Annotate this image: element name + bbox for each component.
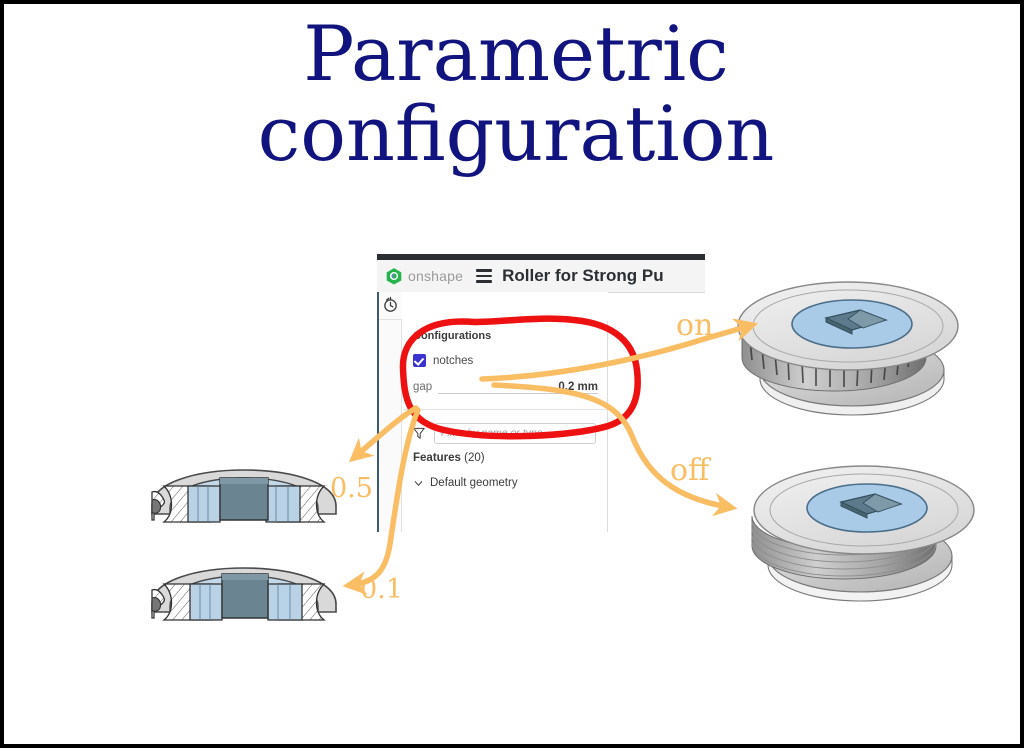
panel-icon-rail: [379, 292, 402, 532]
page-title: Parametric configuration: [4, 14, 1024, 174]
panel-tab-active[interactable]: [402, 292, 608, 320]
features-heading-label: Features: [413, 452, 461, 464]
onshape-logo-icon: [385, 267, 403, 285]
features-count: (20): [464, 452, 484, 464]
feature-list-item[interactable]: Default geometry: [413, 477, 518, 489]
onshape-wordmark: onshape: [408, 268, 463, 284]
feature-filter-row: Filter by name or type: [403, 420, 608, 446]
roller-pulley-with-notches-3d: [720, 262, 976, 422]
notches-label: notches: [433, 355, 473, 367]
gap-label: gap: [413, 381, 432, 393]
filter-placeholder: Filter by name or type: [441, 427, 543, 439]
roller-pulley-smooth-3d: [734, 444, 990, 606]
slide-canvas: Parametric configuration onshape Roller …: [0, 0, 1024, 748]
gap-large-label: 0.5: [330, 475, 373, 502]
notches-checkbox-row[interactable]: notches: [413, 354, 473, 367]
gap-value: 0.2 mm: [558, 381, 598, 393]
filter-funnel-icon[interactable]: [412, 426, 426, 440]
feature-item-label: Default geometry: [430, 477, 518, 489]
filter-input[interactable]: Filter by name or type: [434, 423, 596, 444]
notches-checkbox[interactable]: [413, 354, 426, 367]
roller-cross-section-gap-0.5: [144, 434, 344, 534]
roller-cross-section-gap-0.1: [144, 534, 344, 634]
gap-field-row[interactable]: gap 0.2 mm: [413, 380, 598, 394]
features-heading: Features (20): [413, 452, 485, 464]
chevron-down-icon[interactable]: [413, 478, 424, 489]
notches-off-label: off: [670, 456, 709, 486]
document-title: Roller for Strong Pu: [502, 266, 664, 286]
configurations-panel: Configurations notches gap 0.2 mm: [403, 321, 608, 410]
hamburger-menu-icon[interactable]: [476, 269, 492, 283]
onshape-header-bar: onshape Roller for Strong Pu: [377, 260, 705, 293]
configurations-heading: Configurations: [413, 330, 491, 342]
history-clock-icon[interactable]: [382, 296, 399, 313]
gap-input[interactable]: 0.2 mm: [438, 380, 598, 394]
notches-on-label: on: [676, 311, 713, 341]
onshape-screenshot: onshape Roller for Strong Pu Configurati…: [377, 254, 705, 532]
onshape-left-panel: Configurations notches gap 0.2 mm: [377, 292, 606, 532]
gap-small-label: 0.1: [360, 576, 403, 603]
